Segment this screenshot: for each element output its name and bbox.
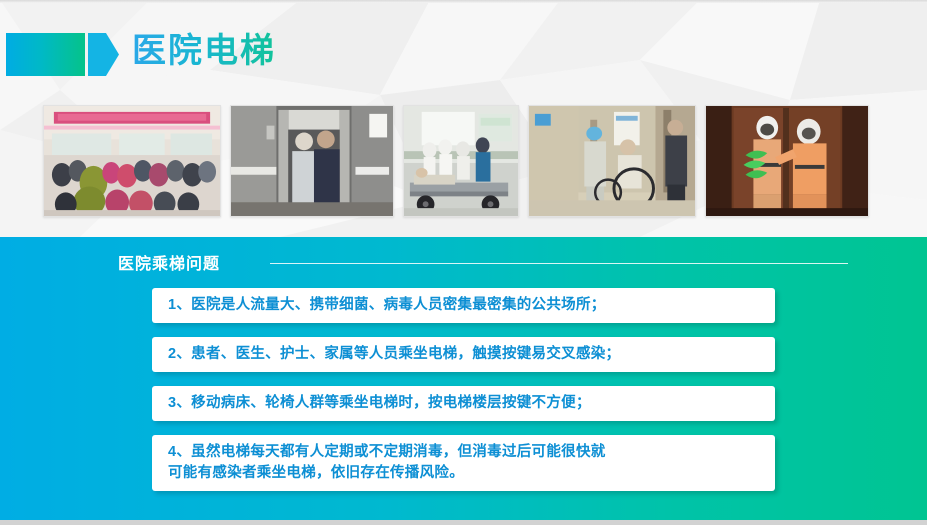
list-item[interactable]: 1、医院是人流量大、携带细菌、病毒人员密集最密集的公共场所； [152, 288, 775, 323]
list-item-text: 3、移动病床、轮椅人群等乘坐电梯时，按电梯楼层按键不方便； [168, 393, 761, 414]
list-item-text: 2、患者、医生、护士、家属等人员乘坐电梯，触摸按键易交叉感染； [168, 344, 761, 365]
list-item-text: 4、虽然电梯每天都有人定期或不定期消毒，但消毒过后可能很快就 可能有感染者乘坐电… [168, 442, 761, 484]
slide-bottom-edge [0, 520, 927, 525]
list-item[interactable]: 2、患者、医生、护士、家属等人员乘坐电梯，触摸按键易交叉感染； [152, 337, 775, 372]
photo-hospital-waiting-hall-crowd [43, 105, 221, 217]
section-divider-line [270, 263, 848, 264]
banner-gradient-bar [6, 33, 85, 76]
photo-workers-in-hazmat-suits-in-elevator [705, 105, 869, 217]
banner-arrow-icon [88, 33, 119, 76]
section-heading: 医院乘梯问题 [118, 250, 220, 274]
list-item-text: 1、医院是人流量大、携带细菌、病毒人员密集最密集的公共场所； [168, 295, 761, 316]
photo-patient-on-stretcher-trolley [403, 105, 519, 217]
photo-nurse-pushing-wheelchair-to-elevator [528, 105, 696, 217]
list-item[interactable]: 4、虽然电梯每天都有人定期或不定期消毒，但消毒过后可能很快就 可能有感染者乘坐电… [152, 435, 775, 491]
list-item[interactable]: 3、移动病床、轮椅人群等乘坐电梯时，按电梯楼层按键不方便； [152, 386, 775, 421]
slide-canvas: 医院电梯 [0, 0, 927, 525]
page-title: 医院电梯 [132, 27, 276, 75]
title-banner-graphic [6, 33, 119, 76]
photo-strip [43, 105, 888, 217]
issue-list: 1、医院是人流量大、携带细菌、病毒人员密集最密集的公共场所； 2、患者、医生、护… [152, 288, 775, 505]
section-header: 医院乘梯问题 [118, 250, 848, 274]
photo-staff-entering-elevator [230, 105, 394, 217]
top-divider [0, 0, 927, 3]
